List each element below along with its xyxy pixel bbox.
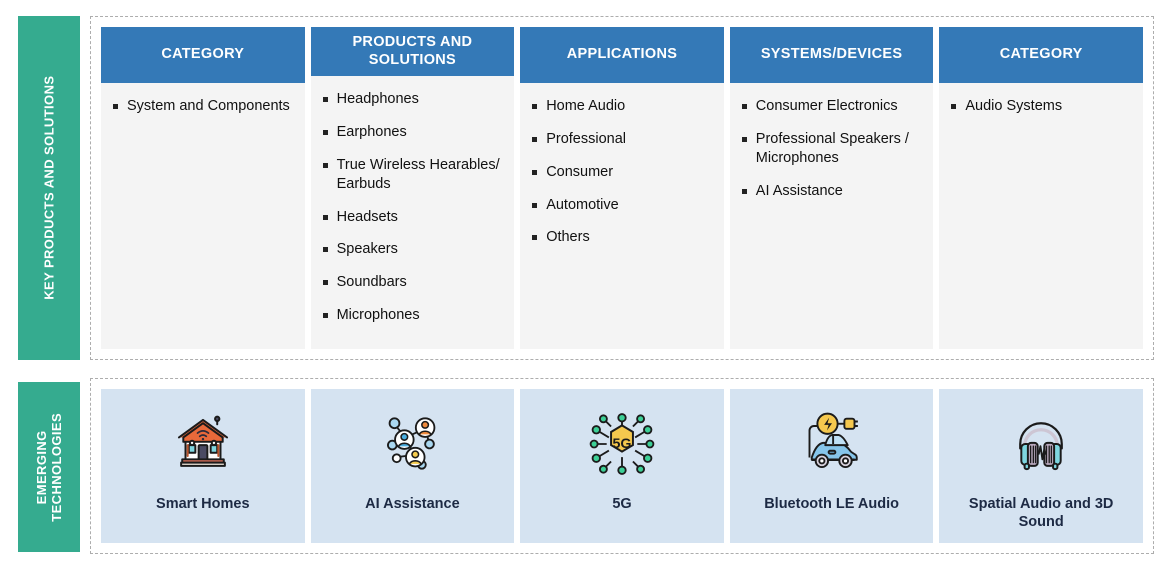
table-column-category-1: CATEGORY System and Components — [101, 27, 305, 349]
section-label-key-products: KEY PRODUCTS AND SOLUTIONS — [18, 16, 80, 360]
list-item: Headsets — [323, 208, 503, 227]
list-item: System and Components — [113, 97, 293, 116]
bullet-list: Consumer Electronics Professional Speake… — [742, 97, 922, 200]
tech-card-bluetooth-le-audio[interactable]: Bluetooth LE Audio — [730, 389, 934, 543]
column-body: Audio Systems — [939, 83, 1143, 349]
column-header: SYSTEMS/DEVICES — [730, 27, 934, 83]
column-header: PRODUCTS AND SOLUTIONS — [311, 27, 515, 76]
list-item: Audio Systems — [951, 97, 1131, 116]
list-item: AI Assistance — [742, 182, 922, 201]
table-column-applications: APPLICATIONS Home Audio Professional Con… — [520, 27, 724, 349]
section-label-key-products-text: KEY PRODUCTS AND SOLUTIONS — [41, 76, 56, 300]
list-item: Earphones — [323, 123, 503, 142]
smart-home-icon — [164, 405, 242, 483]
tech-card-5g[interactable]: 5G 5G — [520, 389, 724, 543]
column-body: Home Audio Professional Consumer Automot… — [520, 83, 724, 349]
emerging-tech-row: Smart Homes — [101, 389, 1143, 543]
column-header: CATEGORY — [101, 27, 305, 83]
tech-card-ai-assistance[interactable]: AI Assistance — [311, 389, 515, 543]
list-item: True Wireless Hearables/ Earbuds — [323, 156, 503, 194]
bullet-list: System and Components — [113, 97, 293, 116]
infographic-board: KEY PRODUCTS AND SOLUTIONS EMERGING TECH… — [0, 0, 1170, 580]
category-table: CATEGORY System and Components PRODUCTS … — [101, 27, 1143, 349]
list-item: Microphones — [323, 306, 503, 325]
column-header: APPLICATIONS — [520, 27, 724, 83]
emerging-technologies-container: Smart Homes — [90, 378, 1154, 554]
list-item: Others — [532, 228, 712, 247]
list-item: Consumer — [532, 163, 712, 182]
tech-card-label: Smart Homes — [150, 495, 255, 513]
tech-card-label: AI Assistance — [359, 495, 466, 513]
bullet-list: Home Audio Professional Consumer Automot… — [532, 97, 712, 247]
section-label-emerging-technologies-text: EMERGING TECHNOLOGIES — [34, 413, 65, 522]
key-products-container: CATEGORY System and Components PRODUCTS … — [90, 16, 1154, 360]
ai-network-icon — [373, 405, 451, 483]
column-body: System and Components — [101, 83, 305, 349]
list-item: Consumer Electronics — [742, 97, 922, 116]
5g-chip-icon: 5G — [583, 405, 661, 483]
table-column-category-2: CATEGORY Audio Systems — [939, 27, 1143, 349]
tech-card-label: Bluetooth LE Audio — [758, 495, 905, 513]
list-item: Headphones — [323, 90, 503, 109]
table-column-systems-devices: SYSTEMS/DEVICES Consumer Electronics Pro… — [730, 27, 934, 349]
tech-card-spatial-audio[interactable]: Spatial Audio and 3D Sound — [939, 389, 1143, 543]
list-item: Home Audio — [532, 97, 712, 116]
tech-card-label: 5G — [606, 495, 637, 513]
headphones-waveform-icon — [1002, 405, 1080, 483]
list-item: Automotive — [532, 196, 712, 215]
table-column-products-and-solutions: PRODUCTS AND SOLUTIONS Headphones Earpho… — [311, 27, 515, 349]
bullet-list: Headphones Earphones True Wireless Heara… — [323, 90, 503, 325]
list-item: Professional Speakers / Microphones — [742, 130, 922, 168]
section-label-emerging-technologies: EMERGING TECHNOLOGIES — [18, 382, 80, 552]
tech-card-label: Spatial Audio and 3D Sound — [939, 495, 1143, 531]
column-header: CATEGORY — [939, 27, 1143, 83]
list-item: Soundbars — [323, 273, 503, 292]
tech-card-smart-homes[interactable]: Smart Homes — [101, 389, 305, 543]
list-item: Professional — [532, 130, 712, 149]
column-body: Consumer Electronics Professional Speake… — [730, 83, 934, 349]
list-item: Speakers — [323, 240, 503, 259]
electric-car-icon — [793, 405, 871, 483]
5g-icon-text: 5G — [613, 436, 632, 452]
bullet-list: Audio Systems — [951, 97, 1131, 116]
column-body: Headphones Earphones True Wireless Heara… — [311, 76, 515, 349]
